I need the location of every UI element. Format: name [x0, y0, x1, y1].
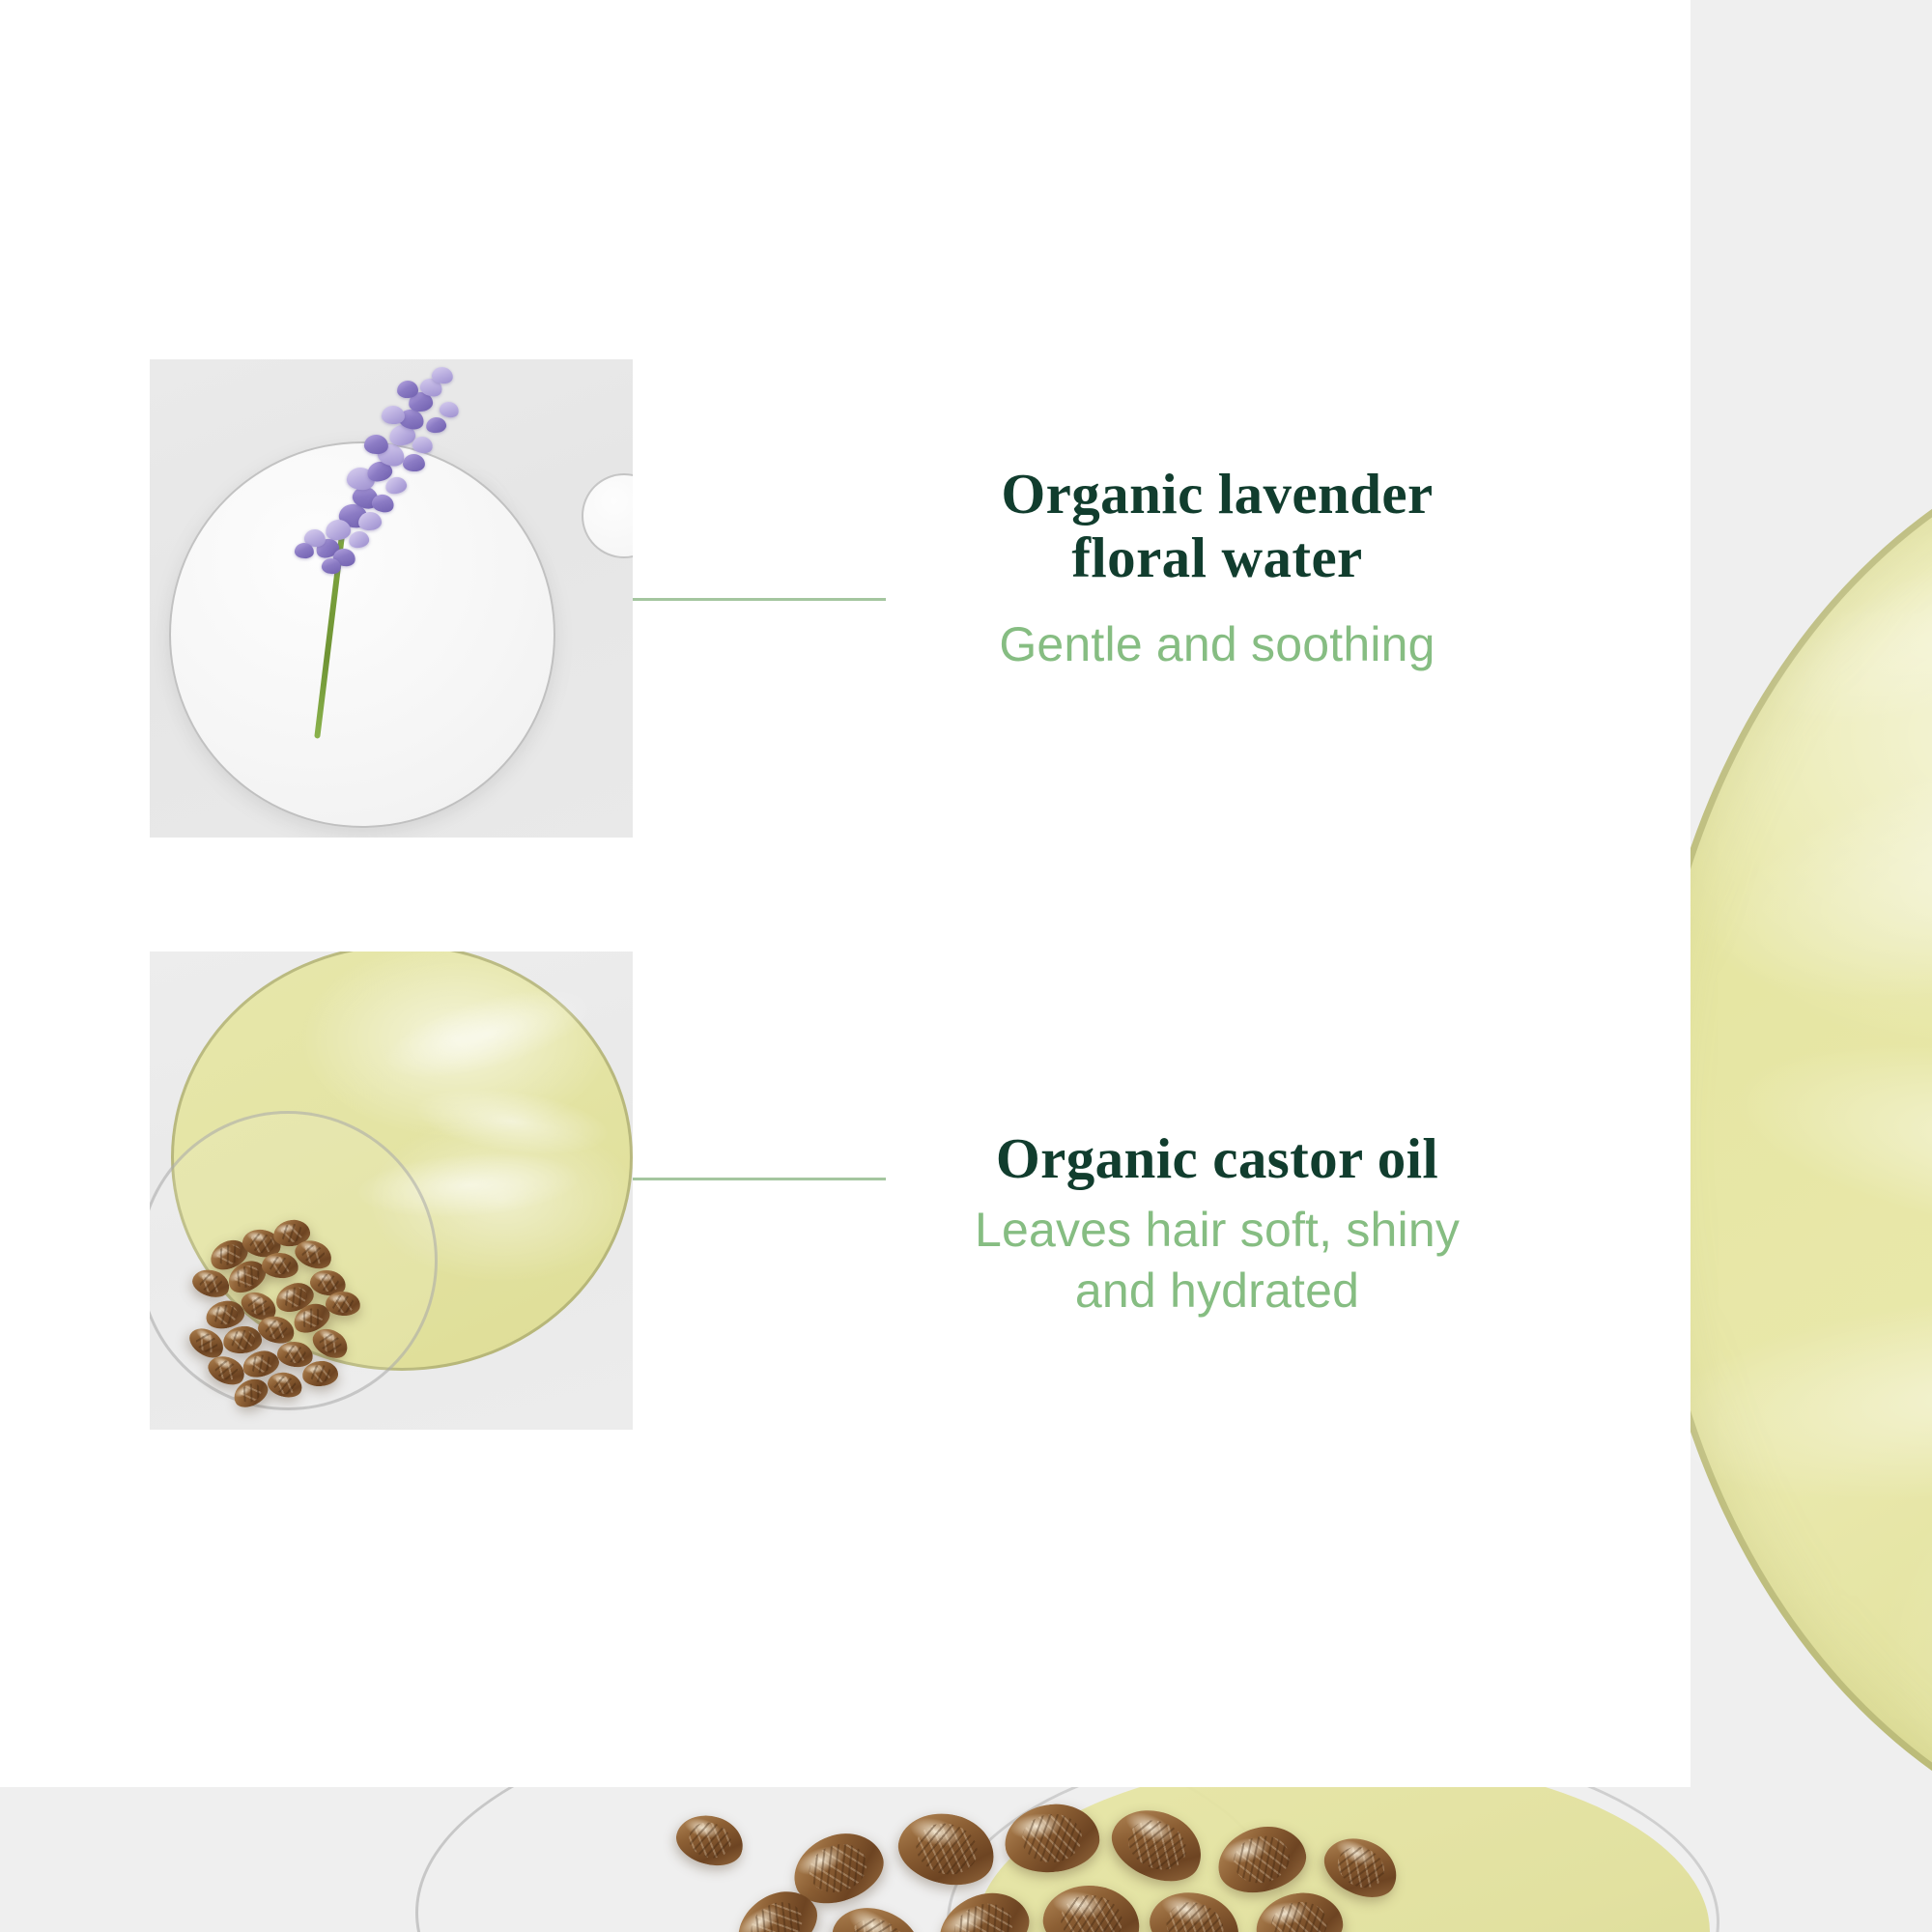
lavender-floret: [382, 406, 406, 425]
ingredient-description-lavender-line1: Gentle and soothing: [999, 617, 1435, 671]
ingredient-title-castor-line1: Organic castor oil: [996, 1126, 1438, 1190]
content-card: [0, 0, 1690, 1787]
product-ingredients-panel: Organic lavender floral water Gentle and…: [0, 0, 1932, 1932]
lavender-floret: [403, 454, 426, 472]
ingredient-image-castor[interactable]: [150, 952, 633, 1430]
lavender-floret: [397, 381, 419, 399]
ingredient-description-castor: Leaves hair soft, shiny and hydrated: [869, 1200, 1565, 1321]
ingredient-title-lavender-line1: Organic lavender: [1001, 462, 1433, 526]
ingredient-title-lavender: Organic lavender floral water: [869, 462, 1565, 589]
ingredient-title-lavender-line2: floral water: [1071, 526, 1362, 589]
connector-line-lavender: [633, 598, 886, 601]
ingredient-title-castor: Organic castor oil: [869, 1126, 1565, 1190]
ingredient-description-castor-line2: and hydrated: [1075, 1264, 1359, 1318]
connector-line-castor: [633, 1178, 886, 1180]
ingredient-text-castor: Organic castor oil Leaves hair soft, shi…: [869, 1126, 1565, 1321]
ingredient-description-lavender: Gentle and soothing: [869, 614, 1565, 675]
castor-oil-ripple: [377, 972, 600, 1095]
castor-oil-ripple: [412, 1078, 612, 1164]
ingredient-description-castor-line1: Leaves hair soft, shiny: [975, 1203, 1460, 1257]
ingredient-text-lavender: Organic lavender floral water Gentle and…: [869, 462, 1565, 675]
ingredient-image-lavender[interactable]: [150, 359, 633, 838]
